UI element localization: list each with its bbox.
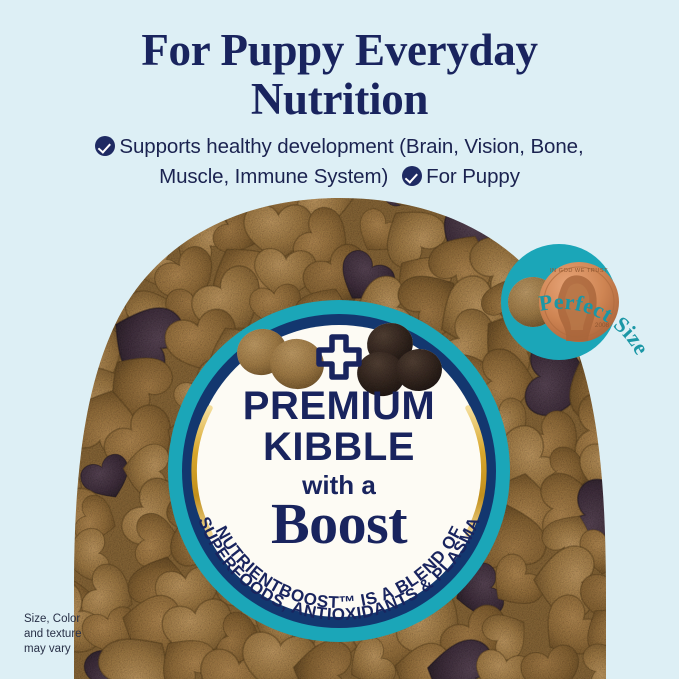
- bullet-label-for-puppy: For Puppy: [426, 165, 520, 188]
- perfect-size-callout: IN GOD WE TRUST 2008 Perfect Size!: [486, 206, 679, 366]
- disclaimer-text: Size, Color and texture may vary: [24, 612, 144, 657]
- bullet-row-second: Muscle, Immune System)For Puppy: [40, 162, 639, 192]
- check-circle-icon: [95, 136, 115, 156]
- premium-kibble-badge: NUTRIENTBOOST™ IS A BLEND OF SUPERFOODS,…: [166, 298, 512, 644]
- page-title: For Puppy Everyday Nutrition: [0, 26, 679, 124]
- bullet-item-development: Supports healthy development (Brain, Vis…: [40, 132, 639, 162]
- check-circle-icon-2: [402, 166, 422, 186]
- bullet-label-development-cont: Muscle, Immune System): [159, 165, 388, 188]
- feature-bullet-list: Supports healthy development (Brain, Vis…: [40, 132, 639, 192]
- bullet-label-development: Supports healthy development (Brain, Vis…: [119, 135, 583, 158]
- product-feature-image: For Puppy Everyday Nutrition Supports he…: [0, 0, 679, 679]
- coin-motto: IN GOD WE TRUST: [550, 268, 608, 274]
